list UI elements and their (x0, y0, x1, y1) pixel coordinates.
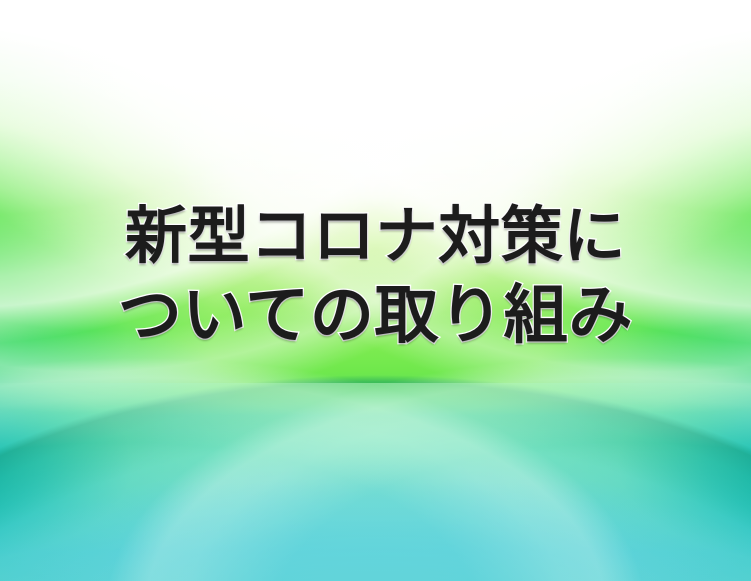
title-line-1: 新型コロナ対策に (0, 196, 751, 276)
slide-title: 新型コロナ対策に ついての取り組み (0, 196, 751, 356)
title-slide: 新型コロナ対策に ついての取り組み (0, 0, 751, 581)
title-line-2: ついての取り組み (0, 276, 751, 356)
